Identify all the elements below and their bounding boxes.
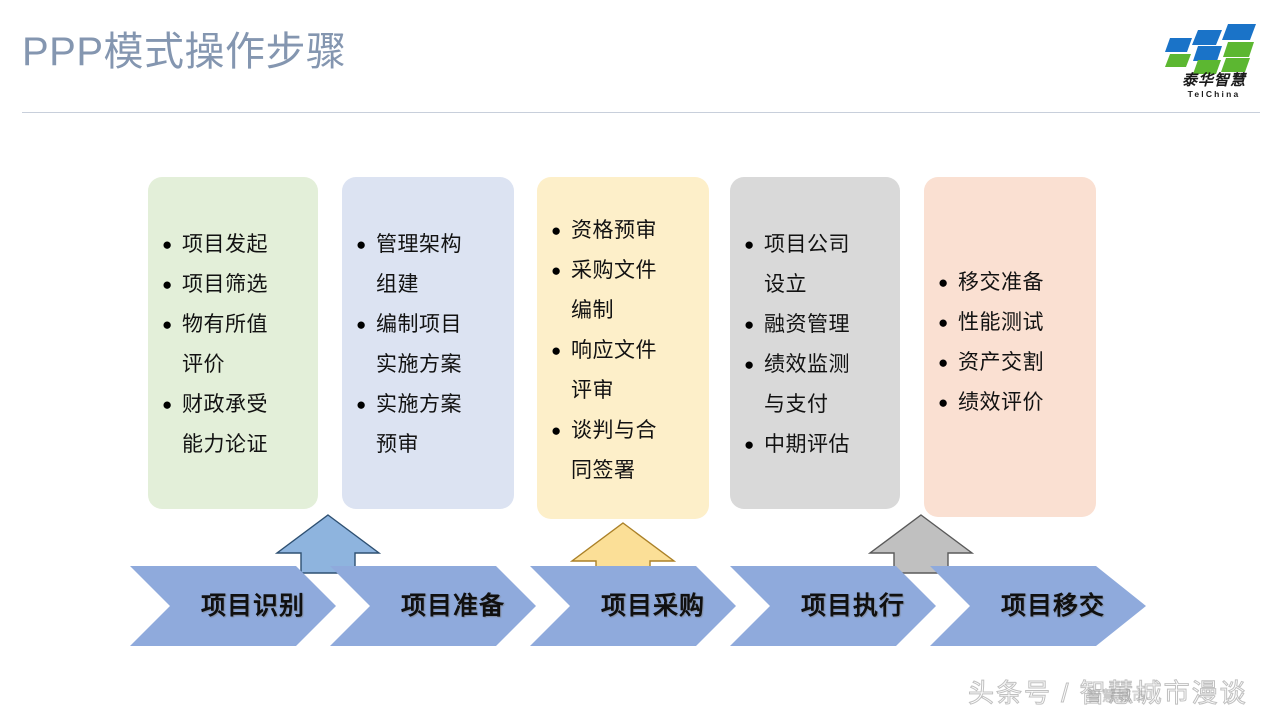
list-item: ● 财政承受 能力论证	[162, 385, 312, 465]
list-item-label: 采购文件 编制	[571, 251, 703, 331]
list-item: ● 实施方案 预审	[356, 385, 508, 465]
list-item-label: 响应文件 评审	[571, 331, 703, 411]
card-bullet-list: ● 管理架构 组建 ● 编制项目 实施方案 ● 实施方案 预审	[342, 185, 514, 465]
list-item-label: 物有所值 评价	[182, 305, 312, 385]
logo-name-en: TelChina	[1158, 89, 1270, 99]
logo-mark-icon	[1158, 20, 1270, 78]
list-item-label: 移交准备	[958, 263, 1090, 303]
list-item-label: 谈判与合 同签署	[571, 411, 703, 491]
list-item-label: 性能测试	[958, 303, 1090, 343]
chevron-label-3[interactable]: 项目采购	[570, 566, 736, 646]
bullet-dot-icon: ●	[162, 225, 182, 265]
card-bullet-list: ● 移交准备 ● 性能测试 ● 资产交割 ● 绩效评价	[924, 185, 1096, 423]
bullet-dot-icon: ●	[356, 385, 376, 425]
list-item-label: 中期评估	[764, 425, 894, 465]
list-item-label: 项目公司 设立	[764, 225, 894, 305]
bullet-dot-icon: ●	[551, 211, 571, 251]
bullet-dot-icon: ●	[938, 383, 958, 423]
list-item: ● 移交准备	[938, 263, 1090, 303]
bullet-dot-icon: ●	[744, 225, 764, 265]
list-item: ● 融资管理	[744, 305, 894, 345]
list-item-label: 管理架构 组建	[376, 225, 508, 305]
list-item: ● 中期评估	[744, 425, 894, 465]
list-item: ● 物有所值 评价	[162, 305, 312, 385]
phase-card-identification[interactable]: ● 项目发起 ● 项目筛选 ● 物有所值 评价 ● 财政承受 能力论证	[148, 177, 318, 509]
list-item-label: 融资管理	[764, 305, 894, 345]
bullet-dot-icon: ●	[744, 345, 764, 385]
list-item-label: 资格预审	[571, 211, 703, 251]
list-item-label: 资产交割	[958, 343, 1090, 383]
watermark-subtext: 智慧城市	[1087, 686, 1147, 706]
list-item: ● 性能测试	[938, 303, 1090, 343]
phase-card-transfer[interactable]: ● 移交准备 ● 性能测试 ● 资产交割 ● 绩效评价	[924, 177, 1096, 517]
list-item-label: 绩效监测 与支付	[764, 345, 894, 425]
list-item: ● 采购文件 编制	[551, 251, 703, 331]
bullet-dot-icon: ●	[744, 425, 764, 465]
list-item: ● 响应文件 评审	[551, 331, 703, 411]
slide-canvas: PPP模式操作步骤 泰华智慧 TelChina ● 项目发起	[0, 0, 1280, 720]
list-item-label: 实施方案 预审	[376, 385, 508, 465]
bullet-dot-icon: ●	[162, 305, 182, 345]
logo-name-cn: 泰华智慧	[1158, 72, 1270, 89]
bullet-dot-icon: ●	[551, 251, 571, 291]
bullet-dot-icon: ●	[356, 305, 376, 345]
bullet-dot-icon: ●	[356, 225, 376, 265]
list-item: ● 绩效监测 与支付	[744, 345, 894, 425]
list-item: ● 资产交割	[938, 343, 1090, 383]
bullet-dot-icon: ●	[744, 305, 764, 345]
bullet-dot-icon: ●	[162, 385, 182, 425]
card-bullet-list: ● 项目公司 设立 ● 融资管理 ● 绩效监测 与支付 ● 中期评估	[730, 185, 900, 465]
phase-card-preparation[interactable]: ● 管理架构 组建 ● 编制项目 实施方案 ● 实施方案 预审	[342, 177, 514, 509]
card-bullet-list: ● 项目发起 ● 项目筛选 ● 物有所值 评价 ● 财政承受 能力论证	[148, 185, 318, 465]
list-item: ● 项目发起	[162, 225, 312, 265]
list-item: ● 项目筛选	[162, 265, 312, 305]
process-chevron-bar: 项目识别 项目准备 项目采购 项目执行 项目移交	[130, 566, 1148, 646]
bullet-dot-icon: ●	[551, 411, 571, 451]
list-item-label: 项目筛选	[182, 265, 312, 305]
list-item: ● 编制项目 实施方案	[356, 305, 508, 385]
title-divider	[22, 112, 1260, 113]
list-item: ● 管理架构 组建	[356, 225, 508, 305]
chevron-label-2[interactable]: 项目准备	[370, 566, 536, 646]
bullet-dot-icon: ●	[938, 343, 958, 383]
list-item: ● 项目公司 设立	[744, 225, 894, 305]
list-item-label: 绩效评价	[958, 383, 1090, 423]
chevron-label-4[interactable]: 项目执行	[770, 566, 936, 646]
bullet-dot-icon: ●	[551, 331, 571, 371]
list-item-label: 财政承受 能力论证	[182, 385, 312, 465]
chevron-label-5[interactable]: 项目移交	[970, 566, 1136, 646]
phase-card-procurement[interactable]: ● 资格预审 ● 采购文件 编制 ● 响应文件 评审 ● 谈判与合 同签署	[537, 177, 709, 519]
list-item: ● 谈判与合 同签署	[551, 411, 703, 491]
list-item-label: 项目发起	[182, 225, 312, 265]
list-item: ● 资格预审	[551, 211, 703, 251]
bullet-dot-icon: ●	[938, 303, 958, 343]
bullet-dot-icon: ●	[162, 265, 182, 305]
list-item: ● 绩效评价	[938, 383, 1090, 423]
bullet-dot-icon: ●	[938, 263, 958, 303]
company-logo: 泰华智慧 TelChina	[1158, 20, 1270, 102]
logo-wordmark: 泰华智慧 TelChina	[1158, 72, 1270, 99]
phase-card-execution[interactable]: ● 项目公司 设立 ● 融资管理 ● 绩效监测 与支付 ● 中期评估	[730, 177, 900, 509]
card-bullet-list: ● 资格预审 ● 采购文件 编制 ● 响应文件 评审 ● 谈判与合 同签署	[537, 185, 709, 491]
chevron-label-1[interactable]: 项目识别	[170, 566, 336, 646]
list-item-label: 编制项目 实施方案	[376, 305, 508, 385]
page-title: PPP模式操作步骤	[22, 26, 347, 78]
